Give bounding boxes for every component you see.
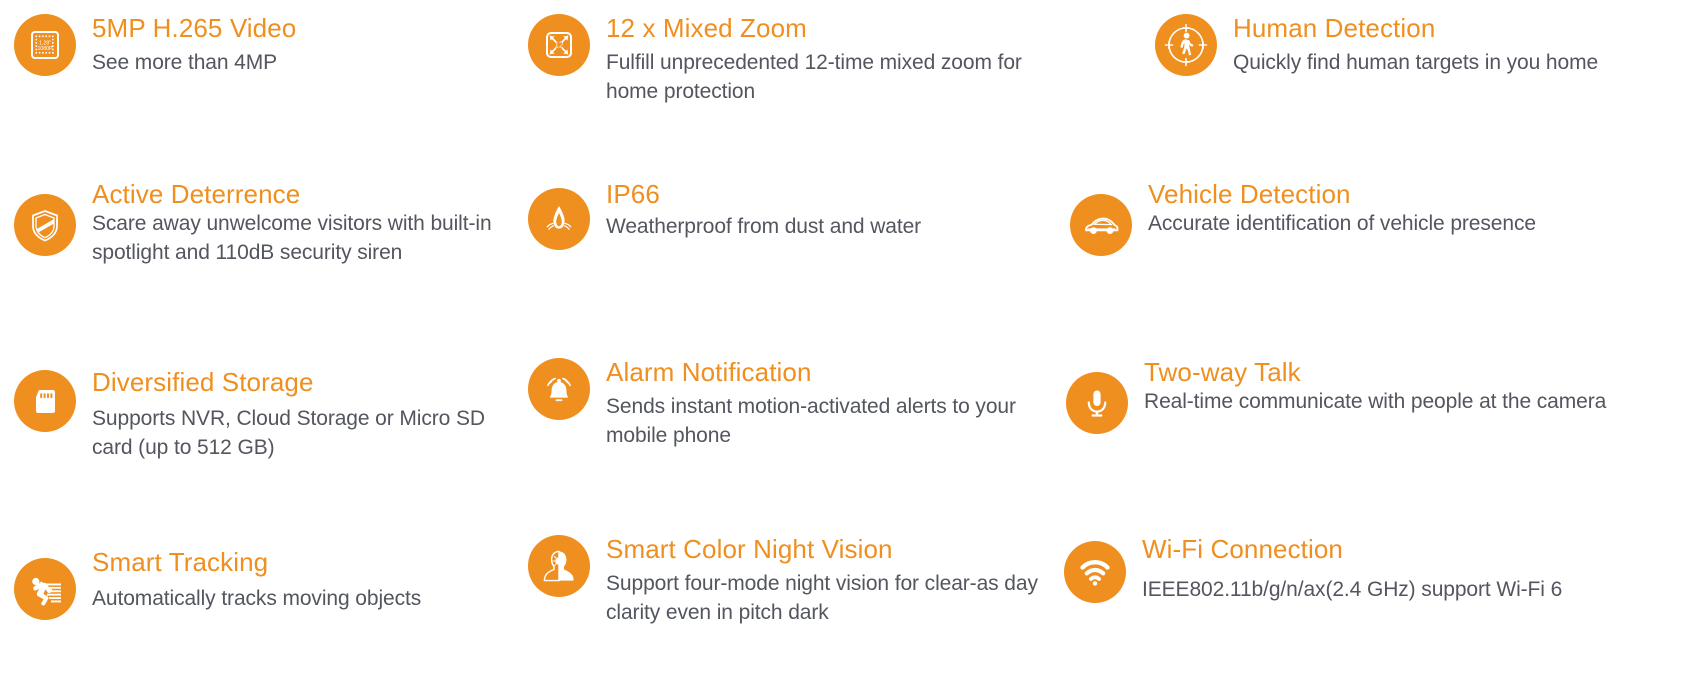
feature-item-wifi: Wi-Fi Connection IEEE802.11b/g/n/ax(2.4 …	[1064, 535, 1609, 605]
feature-grid: 1.28" 1080P 5MP H.265 Video See more tha…	[0, 0, 1696, 698]
car-icon	[1070, 194, 1132, 256]
feature-text: Wi-Fi Connection IEEE802.11b/g/n/ax(2.4 …	[1142, 535, 1609, 605]
feature-text: Two-way Talk Real-time communicate with …	[1144, 358, 1611, 417]
feature-text: Smart Color Night Vision Support four-mo…	[606, 535, 1048, 627]
feature-text: 12 x Mixed Zoom Fulfill unprecedented 12…	[606, 14, 1048, 106]
feature-description: Scare away unwelcome visitors with built…	[92, 210, 514, 267]
feature-item-storage: Diversified Storage Supports NVR, Cloud …	[14, 368, 529, 462]
feature-description: See more than 4MP	[92, 49, 514, 78]
human-detection-icon	[1155, 14, 1217, 76]
feature-text: Vehicle Detection Accurate identificatio…	[1148, 180, 1600, 239]
feature-description: Accurate identification of vehicle prese…	[1148, 210, 1600, 239]
video-chip-icon: 1.28" 1080P	[14, 14, 76, 76]
feature-title: Smart Color Night Vision	[606, 535, 1048, 564]
feature-title: Diversified Storage	[92, 368, 529, 397]
feature-text: IP66 Weatherproof from dust and water	[606, 180, 1048, 242]
feature-text: Diversified Storage Supports NVR, Cloud …	[92, 368, 529, 462]
feature-title: Active Deterrence	[92, 180, 514, 209]
smart-tracking-icon	[14, 558, 76, 620]
feature-title: Alarm Notification	[606, 358, 1048, 387]
feature-description: Weatherproof from dust and water	[606, 213, 1048, 242]
shield-icon	[14, 194, 76, 256]
feature-text: Smart Tracking Automatically tracks movi…	[92, 548, 529, 614]
feature-item-smart-tracking: Smart Tracking Automatically tracks movi…	[14, 548, 529, 620]
feature-item-ip66: IP66 Weatherproof from dust and water	[528, 180, 1048, 250]
feature-title: Human Detection	[1233, 14, 1685, 43]
feature-item-zoom: 12 12 x Mixed Zoom Fulfill unprecedented…	[528, 14, 1048, 106]
feature-description: IEEE802.11b/g/n/ax(2.4 GHz) support Wi-F…	[1142, 576, 1609, 605]
feature-title: 12 x Mixed Zoom	[606, 14, 1048, 43]
feature-item-video: 1.28" 1080P 5MP H.265 Video See more tha…	[14, 14, 514, 78]
night-vision-face-icon	[528, 535, 590, 597]
feature-item-alarm: Alarm Notification Sends instant motion-…	[528, 358, 1048, 450]
feature-item-human-detection: Human Detection Quickly find human targe…	[1155, 14, 1685, 78]
feature-item-active-deterrence: Active Deterrence Scare away unwelcome v…	[14, 180, 514, 267]
feature-description: Support four-mode night vision for clear…	[606, 570, 1048, 627]
feature-description: Fulfill unprecedented 12-time mixed zoom…	[606, 49, 1048, 106]
svg-text:12: 12	[555, 41, 564, 50]
microphone-icon	[1066, 372, 1128, 434]
feature-text: Active Deterrence Scare away unwelcome v…	[92, 180, 514, 267]
feature-title: Wi-Fi Connection	[1142, 535, 1609, 564]
feature-description: Automatically tracks moving objects	[92, 585, 529, 614]
feature-title: Two-way Talk	[1144, 358, 1611, 387]
feature-text: 5MP H.265 Video See more than 4MP	[92, 14, 514, 78]
feature-item-night-vision: Smart Color Night Vision Support four-mo…	[528, 535, 1048, 627]
feature-description: Sends instant motion-activated alerts to…	[606, 393, 1048, 450]
feature-item-two-way-talk: Two-way Talk Real-time communicate with …	[1066, 358, 1611, 434]
feature-description: Supports NVR, Cloud Storage or Micro SD …	[92, 405, 529, 462]
wifi-icon	[1064, 541, 1126, 603]
feature-description: Real-time communicate with people at the…	[1144, 388, 1611, 417]
water-drop-icon	[528, 188, 590, 250]
feature-description: Quickly find human targets in you home	[1233, 49, 1685, 78]
feature-title: Vehicle Detection	[1148, 180, 1600, 209]
feature-title: IP66	[606, 180, 1048, 209]
feature-text: Alarm Notification Sends instant motion-…	[606, 358, 1048, 450]
feature-item-vehicle-detection: Vehicle Detection Accurate identificatio…	[1070, 180, 1600, 256]
svg-text:1080P: 1080P	[37, 46, 53, 52]
sd-card-icon	[14, 370, 76, 432]
feature-text: Human Detection Quickly find human targe…	[1233, 14, 1685, 78]
alarm-bell-icon	[528, 358, 590, 420]
feature-title: 5MP H.265 Video	[92, 14, 514, 43]
zoom-frame-icon: 12	[528, 14, 590, 76]
feature-title: Smart Tracking	[92, 548, 529, 577]
